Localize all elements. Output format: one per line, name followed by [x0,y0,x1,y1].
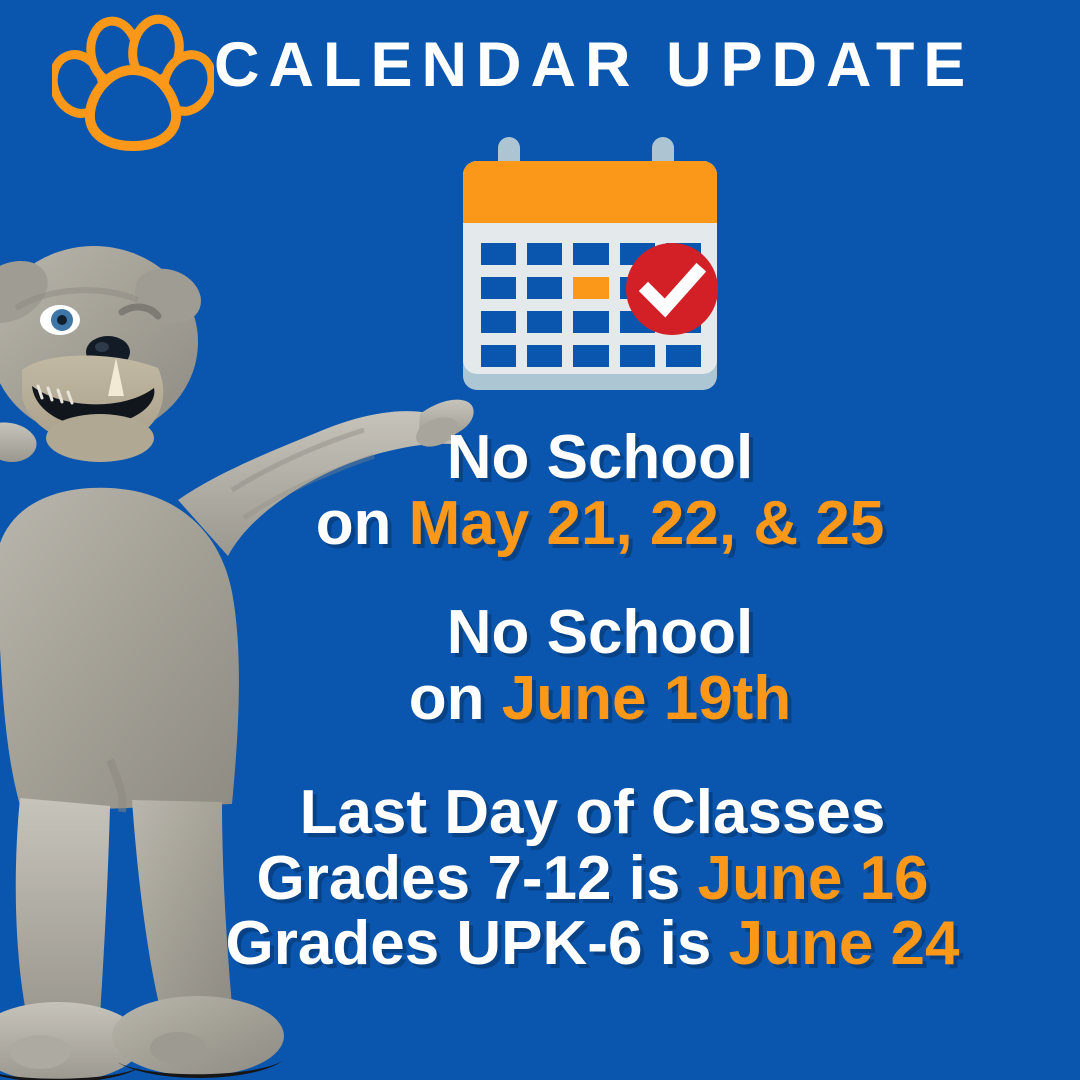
message-line-2-highlight: June 19th [502,664,791,733]
calendar-header-bar [463,161,717,223]
calendar-cell [573,243,608,265]
calendar-cell [527,243,562,265]
calendar-cell [527,277,562,299]
calendar-cell [527,311,562,333]
calendar-cell [620,345,655,367]
message-line-2: on June 19th [250,666,950,732]
message-no-school-may: No School on May 21, 22, & 25 [250,425,950,556]
message-line-1: No School [250,600,950,666]
calendar-cell [481,277,516,299]
calendar-cell [481,311,516,333]
message-line-2-highlight: May 21, 22, & 25 [409,489,885,558]
message-line-2-prefix: Grades 7-12 is [256,844,697,913]
check-mark-icon [626,243,718,335]
message-line-2-prefix: on [316,489,409,558]
message-line-2-highlight: June 16 [698,844,929,913]
message-line-2: on May 21, 22, & 25 [250,491,950,557]
message-line-3-highlight: June 24 [729,909,960,978]
calendar-update-poster: CALENDAR UPDATE [0,0,1080,1080]
paw-print-logo [52,12,214,152]
calendar-icon [460,137,720,390]
message-line-1: Last Day of Classes [175,780,1010,846]
calendar-cell [481,243,516,265]
calendar-cell-highlighted [573,277,608,299]
message-last-day-of-classes: Last Day of Classes Grades 7-12 is June … [175,780,1010,977]
message-line-1: No School [250,425,950,491]
message-line-2: Grades 7-12 is June 16 [175,846,1010,912]
page-title: CALENDAR UPDATE [214,34,974,97]
calendar-cell [573,311,608,333]
poster-header: CALENDAR UPDATE [0,0,1080,160]
message-line-3-prefix: Grades UPK-6 is [226,909,729,978]
calendar-cell [527,345,562,367]
message-no-school-june: No School on June 19th [250,600,950,731]
calendar-cell [666,345,701,367]
calendar-cell [573,345,608,367]
calendar-cell [481,345,516,367]
message-line-2-prefix: on [409,664,502,733]
message-line-3: Grades UPK-6 is June 24 [175,911,1010,977]
